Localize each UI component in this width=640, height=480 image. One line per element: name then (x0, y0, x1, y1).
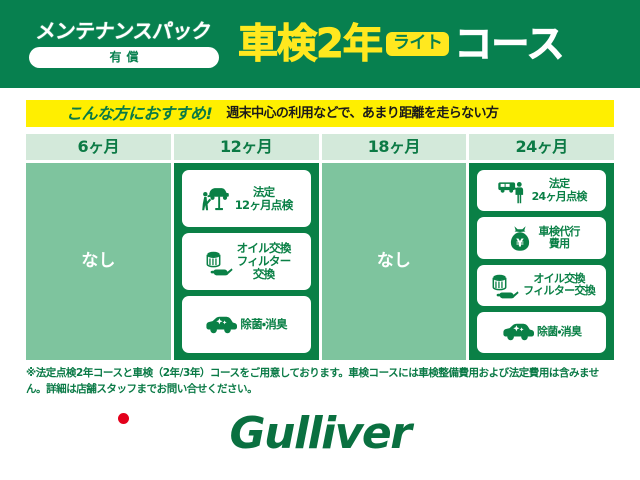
service-item-card: オイル交換 フィルター 交換 (182, 233, 311, 290)
column-header-24months: 24ヶ月 (469, 134, 614, 160)
column-header-6months: 6ヶ月 (26, 134, 171, 160)
course-main-title: 車検2年 (238, 24, 382, 64)
service-item-label: 除菌・消臭 (537, 326, 581, 338)
brand-logo-dot (118, 413, 129, 424)
column-body-12months: 法定 12ヶ月点検 (174, 163, 319, 360)
table-column-6months: 6ヶ月 なし (26, 134, 171, 360)
paid-badge: 有償 (29, 47, 219, 68)
recommendation-lead: こんな方におすすめ! (66, 106, 212, 122)
service-item-label: オイル交換 フィルター 交換 (237, 242, 291, 281)
column-header-label: 24ヶ月 (515, 139, 567, 155)
column-body-24months: 法定 24ヶ月点検 ¥ 車検代行 費用 (469, 163, 614, 360)
footnote-text: ※法定点検2年コースと車検（2年/3年）コースをご用意しております。車検コースに… (26, 366, 618, 398)
course-suffix-label: コース (454, 25, 563, 63)
money-bag-yen-icon: ¥ (504, 223, 536, 253)
service-item-card: ¥ 車検代行 費用 (477, 217, 606, 258)
paid-badge-label: 有償 (104, 51, 143, 63)
car-sanitize-icon (502, 317, 534, 347)
column-body-6months: なし (26, 163, 171, 360)
column-body-18months: なし (322, 163, 467, 360)
service-item-label: 法定 12ヶ月点検 (235, 186, 293, 212)
none-label: なし (377, 253, 411, 270)
course-light-badge: ライト (386, 32, 450, 56)
car-on-lift-icon (200, 184, 232, 214)
header-banner: メンテナンスパック 有償 車検2年 ライト コース (0, 0, 640, 88)
service-item-card: 除菌・消臭 (477, 312, 606, 353)
oil-filter-can-icon (488, 270, 520, 300)
car-inspection-icon (497, 176, 529, 206)
maintenance-pack-title: メンテナンスパック (35, 21, 212, 41)
service-item-label: 法定 24ヶ月点検 (532, 178, 587, 203)
service-item-card: 法定 24ヶ月点検 (477, 170, 606, 211)
service-item-label: 除菌・消臭 (240, 318, 286, 331)
column-header-18months: 18ヶ月 (322, 134, 467, 160)
service-item-card: オイル交換 フィルター交換 (477, 265, 606, 306)
advertisement-page: メンテナンスパック 有償 車検2年 ライト コース こんな方におすすめ! 週末中… (0, 0, 640, 480)
service-item-card: 法定 12ヶ月点検 (182, 170, 311, 227)
service-item-label: オイル交換 フィルター交換 (523, 273, 595, 298)
maintenance-schedule-table: 6ヶ月 なし 12ヶ月 (26, 134, 614, 360)
recommendation-bar: こんな方におすすめ! 週末中心の利用などで、あまり距離を走らない方 (26, 100, 614, 127)
service-item-label: 車検代行 費用 (539, 226, 580, 251)
table-column-18months: 18ヶ月 なし (322, 134, 467, 360)
svg-text:¥: ¥ (516, 236, 524, 249)
brand-logo-text: Gulliver (230, 412, 411, 456)
column-header-label: 12ヶ月 (220, 139, 272, 155)
recommendation-description: 週末中心の利用などで、あまり距離を走らない方 (226, 107, 498, 120)
course-title-block: 車検2年 ライト コース (238, 24, 640, 64)
brand-logo: Gulliver (0, 412, 640, 456)
column-header-label: 6ヶ月 (78, 139, 120, 155)
column-header-12months: 12ヶ月 (174, 134, 319, 160)
service-item-card: 除菌・消臭 (182, 296, 311, 353)
car-sanitize-icon (205, 310, 237, 340)
maintenance-pack-block: メンテナンスパック 有償 (18, 21, 230, 68)
column-header-label: 18ヶ月 (368, 139, 420, 155)
table-column-12months: 12ヶ月 (174, 134, 319, 360)
oil-filter-can-icon (202, 247, 234, 277)
none-label: なし (81, 253, 115, 270)
table-column-24months: 24ヶ月 (469, 134, 614, 360)
